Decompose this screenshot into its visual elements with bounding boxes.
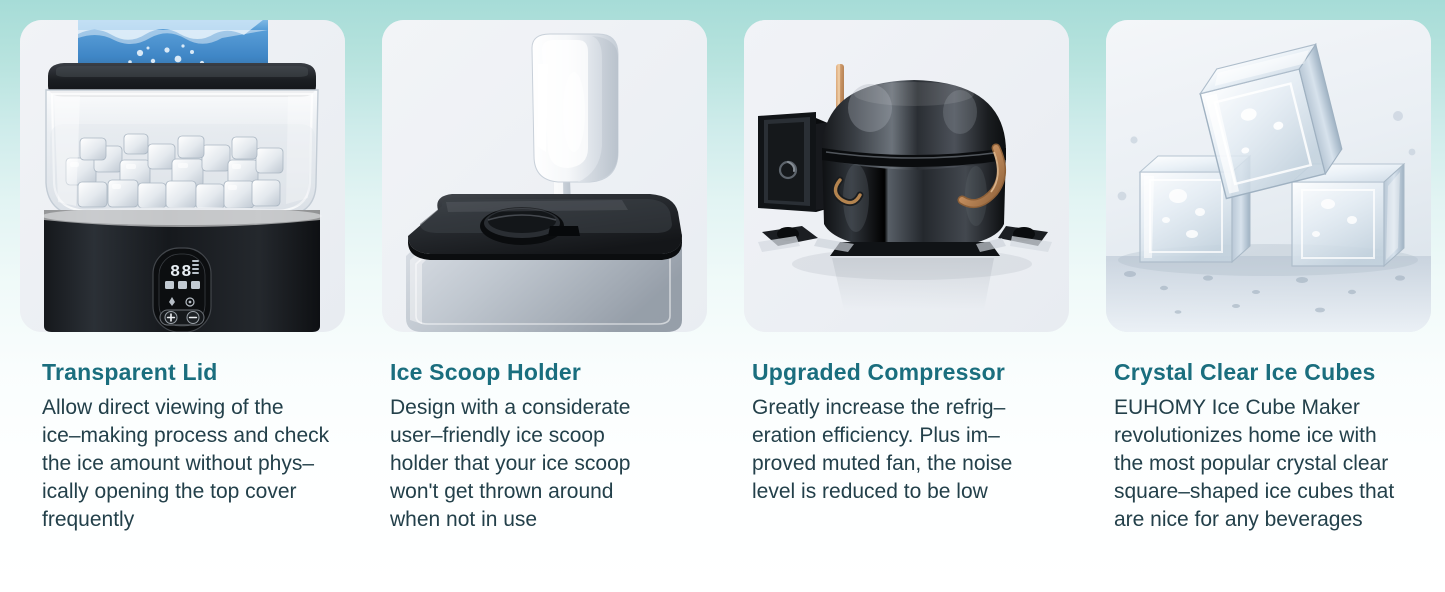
feature-grid: 88 [0,0,1445,592]
svg-text:88: 88 [170,263,192,282]
feature-card-ice-scoop-holder: Ice Scoop Holder Design with a considera… [382,20,707,592]
feature-image-ice-scoop-holder [382,20,707,332]
feature-image-transparent-lid: 88 [20,20,345,332]
feature-description: Greatly increase the refrig– eration eff… [752,394,1082,506]
feature-card-transparent-lid: 88 [20,20,345,592]
plus-minus-buttons [160,310,204,325]
feature-description: Design with a considerate user–friendly … [390,394,720,534]
ice-scoop-illustration [382,20,707,332]
ice-cube-right [1292,164,1404,266]
compressor-illustration [744,20,1069,332]
ice-cubes-illustration [1106,20,1431,332]
feature-card-crystal-clear-ice-cubes: Crystal Clear Ice Cubes EUHOMY Ice Cube … [1106,20,1431,592]
feature-image-upgraded-compressor [744,20,1069,332]
feature-heading: Crystal Clear Ice Cubes [1114,360,1431,385]
feature-description: Allow direct viewing of the ice–making p… [42,394,372,534]
feature-heading: Upgraded Compressor [752,360,1069,385]
control-panel: 88 [153,248,211,332]
ice-scoop [532,34,618,182]
feature-image-crystal-clear-ice-cubes [1106,20,1431,332]
feature-card-upgraded-compressor: Upgraded Compressor Greatly increase the… [744,20,1069,592]
ice-maker-illustration: 88 [20,20,345,332]
feature-heading: Ice Scoop Holder [390,360,707,385]
feature-description: EUHOMY Ice Cube Maker revolutionizes hom… [1114,394,1444,534]
ice-cubes-in-bin [48,120,318,215]
feature-heading: Transparent Lid [42,360,345,385]
